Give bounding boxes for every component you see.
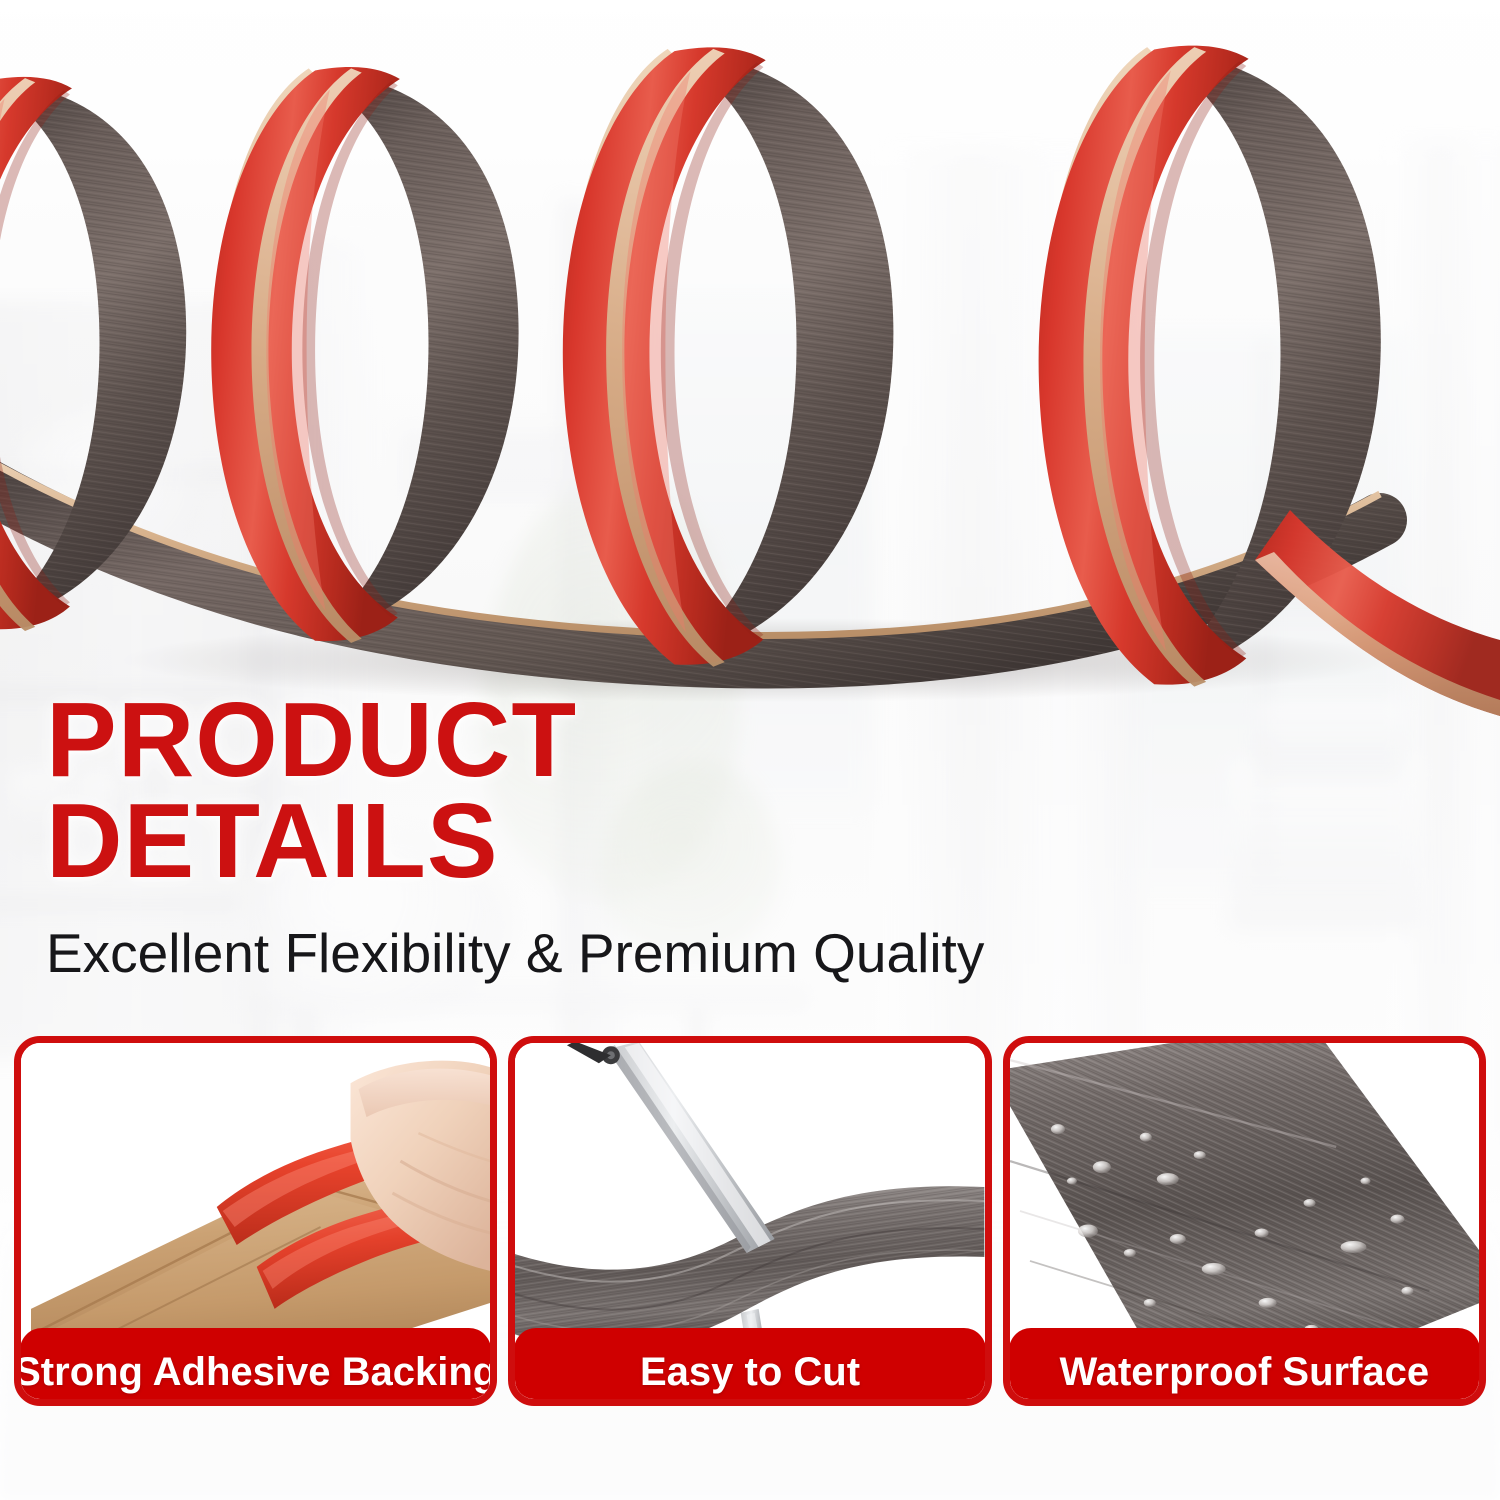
card-caption-adhesive: Strong Adhesive Backing [20,1328,491,1406]
feature-card-cut[interactable]: Easy to Cut [508,1036,991,1406]
card-caption-waterproof: Waterproof Surface [1009,1328,1480,1406]
card-caption-text: Easy to Cut [640,1350,860,1395]
feature-card-waterproof-wrap: Waterproof Surface [1003,1036,1486,1468]
feature-card-adhesive-wrap: Strong Adhesive Backing [14,1036,497,1468]
feature-card-row: Strong Adhesive Backing [14,1036,1486,1468]
page-title: PRODUCT DETAILS [46,690,984,891]
card-caption-text: Waterproof Surface [1059,1350,1429,1395]
hero-coiled-trim-image [0,0,1500,720]
feature-card-cut-wrap: Easy to Cut [508,1036,991,1468]
page-subtitle: Excellent Flexibility & Premium Quality [46,921,984,985]
feature-card-adhesive[interactable]: Strong Adhesive Backing [14,1036,497,1406]
feature-card-waterproof[interactable]: Waterproof Surface [1003,1036,1486,1406]
coil-2 [211,67,518,643]
card-caption-cut: Easy to Cut [514,1328,985,1406]
heading-block: PRODUCT DETAILS Excellent Flexibility & … [46,690,984,985]
card-caption-text: Strong Adhesive Backing [14,1350,497,1395]
product-details-marketing-image: PRODUCT DETAILS Excellent Flexibility & … [0,0,1500,1500]
coil-3 [563,47,894,666]
